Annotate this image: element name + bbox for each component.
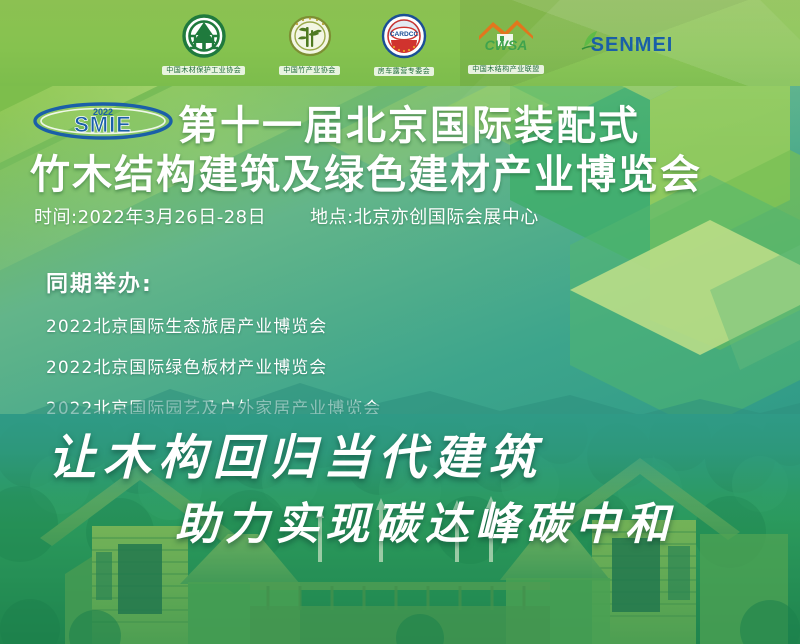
concurrent-heading: 同期举办: [46,266,381,298]
svg-text:CWSA: CWSA [485,37,528,53]
pine-tree-emblem-icon [181,13,227,64]
sponsor-logo-3: CWSA 中国木结构产业联盟 [468,14,544,75]
smie-mark-text: SMIE [74,112,132,137]
smie-brand-logo: 2022 SMIE [32,96,174,142]
concurrent-event-item: 2022北京国际生态旅居产业博览会 [46,312,381,337]
sponsor-logo-2: CARDCC 房车露营专委会 [374,12,435,77]
slogan-line-2: 助力实现碳达峰碳中和 [175,488,675,552]
svg-text:SENMEI: SENMEI [590,34,673,56]
bamboo-emblem-icon [287,13,333,64]
headline-line-2: 竹木结构建筑及绿色建材产业博览会 [30,142,702,200]
leaf-wordmark-icon: SENMEI [578,25,678,64]
sponsor-logo-0: 中国木材保护工业协会 [162,13,245,76]
exhibition-poster: 中国木材保护工业协会 [0,0,800,644]
event-venue: 地点:北京亦创国际会展中心 [310,203,539,229]
svg-text:CARDCC: CARDCC [390,31,419,38]
sponsor-logo-label: 房车露营专委会 [374,67,435,77]
sponsor-logo-1: 中国竹产业协会 [279,13,340,76]
sponsor-logo-strip: 中国木材保护工业协会 [0,6,800,82]
house-roof-emblem-icon: CWSA [475,14,537,63]
sponsor-logo-label: 中国木结构产业联盟 [468,65,544,75]
sponsor-logo-label: 中国木材保护工业协会 [162,66,245,76]
sponsor-logo-4: SENMEI [578,25,678,64]
sponsor-logo-label: 中国竹产业协会 [279,66,340,76]
event-meta: 时间:2022年3月26日-28日 地点:北京亦创国际会展中心 [34,203,539,229]
cardcc-emblem-icon: CARDCC [380,12,428,65]
slogan-line-1: 让木构回归当代建筑 [48,418,543,488]
event-date: 时间:2022年3月26日-28日 [34,203,266,229]
